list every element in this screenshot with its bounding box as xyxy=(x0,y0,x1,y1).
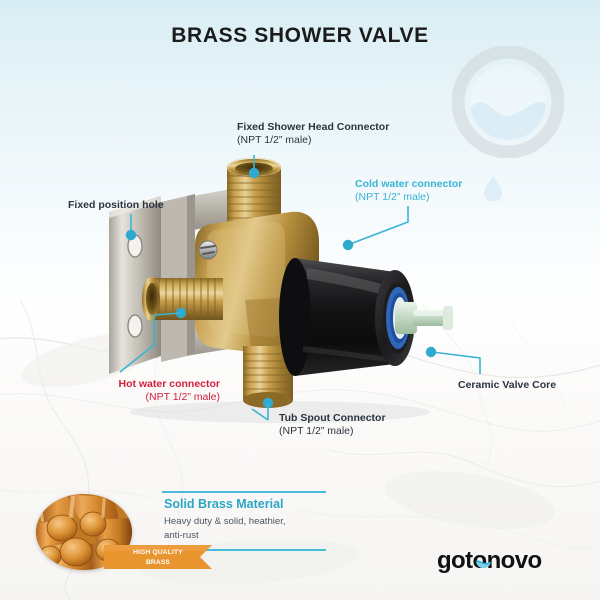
label-cold-water-connector: Cold water connector (NPT 1/2” male) xyxy=(355,178,462,204)
label-line1: Fixed Shower Head Connector xyxy=(237,121,389,134)
label-line2: (NPT 1/2” male) xyxy=(237,134,389,147)
gotonovo-wordmark: gotonovo xyxy=(437,547,567,573)
label-line2: (NPT 1/2” male) xyxy=(88,391,220,404)
feature-heading: Solid Brass Material xyxy=(164,497,284,511)
label-line1: Hot water connector xyxy=(88,378,220,391)
label-fixed-shower-head-connector: Fixed Shower Head Connector (NPT 1/2” ma… xyxy=(237,121,389,147)
water-droplet-icon xyxy=(483,175,503,201)
label-line1: Fixed position hole xyxy=(68,199,164,212)
label-line1: Tub Spout Connector xyxy=(279,412,386,425)
badge-line1: HIGH QUALITY xyxy=(108,548,208,558)
label-fixed-position-hole: Fixed position hole xyxy=(68,199,164,212)
label-line2: (NPT 1/2” male) xyxy=(279,425,386,438)
high-quality-badge-text: HIGH QUALITY BRASS xyxy=(108,548,208,568)
callout-divider-top xyxy=(162,491,326,493)
feature-description: Heavy duty & solid, heathier, anti-rust xyxy=(164,515,294,543)
label-ceramic-valve-core: Ceramic Valve Core xyxy=(458,379,556,392)
label-line1: Cold water connector xyxy=(355,178,462,191)
gotonovo-ring-watermark xyxy=(452,46,564,158)
infographic-canvas: BRASS SHOWER VALVE xyxy=(0,0,600,600)
page-title: BRASS SHOWER VALVE xyxy=(0,24,600,48)
hot-water-port xyxy=(142,277,223,321)
label-line1: Ceramic Valve Core xyxy=(458,379,556,392)
label-line2: (NPT 1/2” male) xyxy=(355,191,462,204)
badge-line2: BRASS xyxy=(108,558,208,568)
svg-text:gotonovo: gotonovo xyxy=(437,547,542,573)
label-hot-water-connector: Hot water connector (NPT 1/2” male) xyxy=(88,378,220,404)
body-screw xyxy=(199,241,217,259)
ceramic-valve-core xyxy=(386,287,453,349)
brand-logo-gotonovo: gotonovo xyxy=(437,547,567,573)
feature-callout-solid-brass: Solid Brass Material Heavy duty & solid,… xyxy=(36,491,288,571)
label-tub-spout-connector: Tub Spout Connector (NPT 1/2” male) xyxy=(279,412,386,438)
